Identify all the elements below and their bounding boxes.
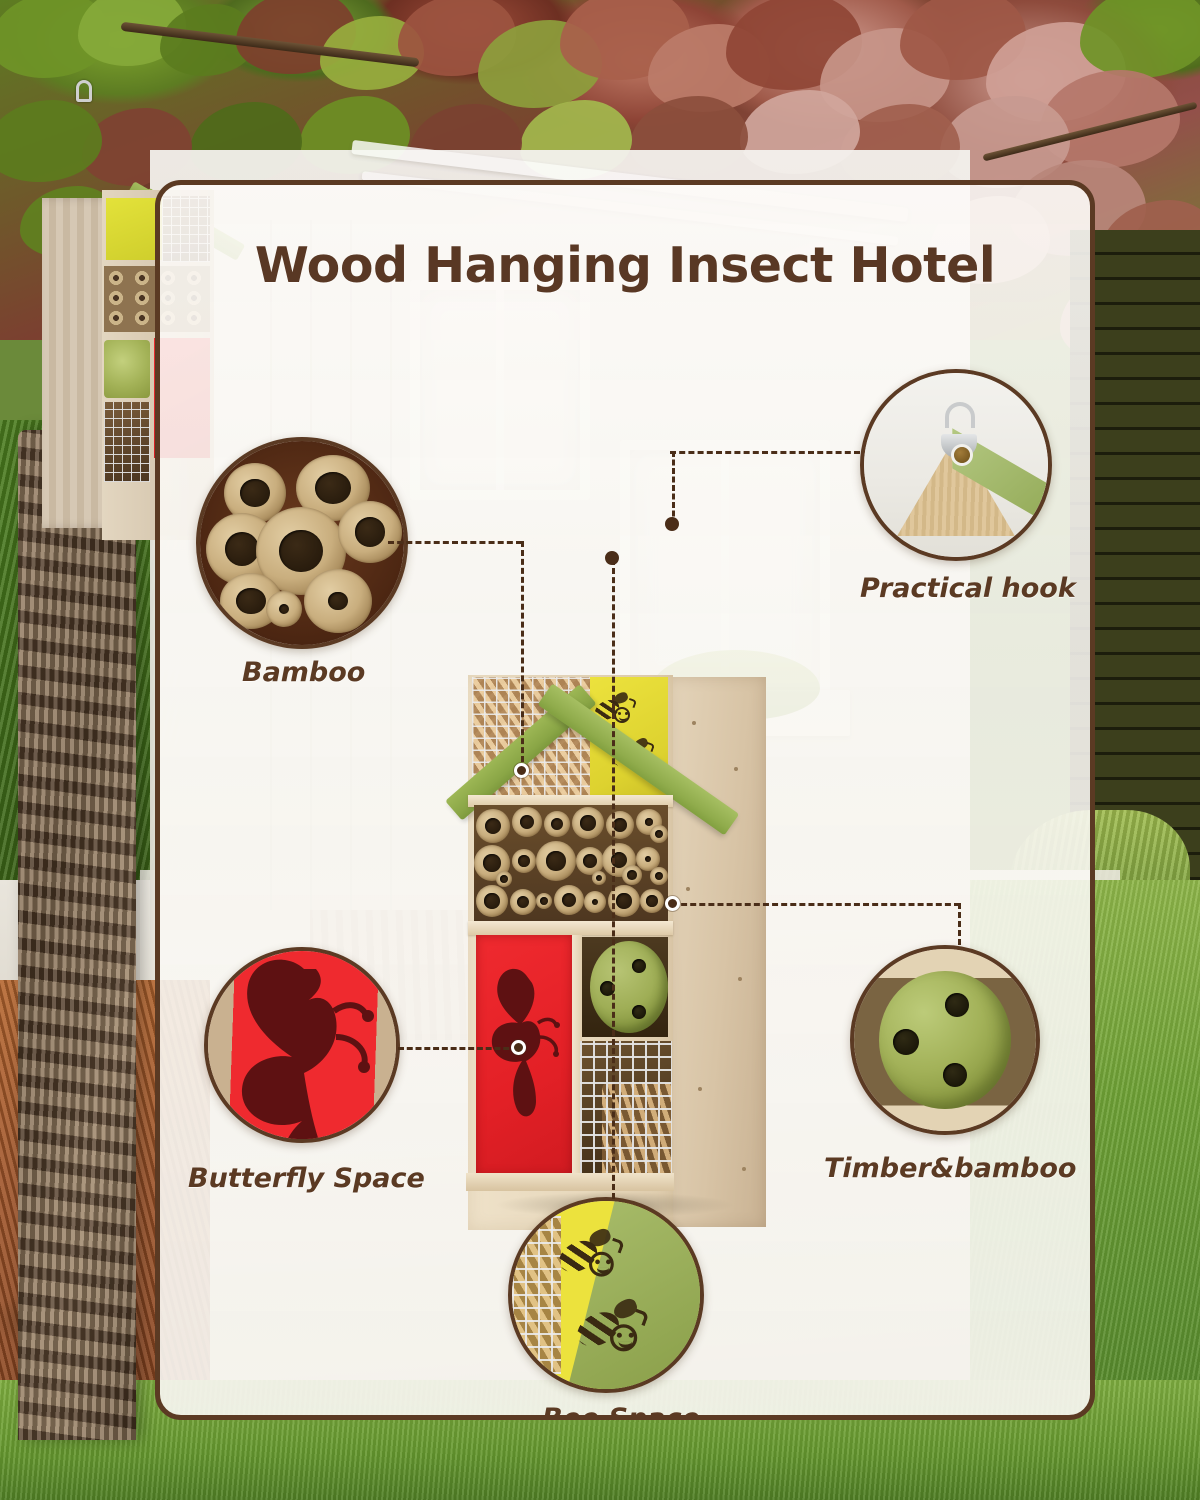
connector-endpoint — [665, 517, 679, 531]
bamboo-tube — [512, 807, 542, 837]
d-ring-hook-icon — [864, 373, 1048, 557]
leaf — [1080, 0, 1200, 78]
shelf — [468, 921, 673, 935]
drilled-log-icon — [854, 949, 1036, 1131]
connector-line — [672, 451, 675, 525]
connector-line — [398, 1047, 518, 1050]
bamboo-tube — [606, 811, 634, 839]
butterfly-shape — [218, 953, 388, 1143]
connector-endpoint — [665, 896, 680, 911]
timber-bubble[interactable] — [850, 945, 1040, 1135]
product-side-panel — [668, 677, 766, 1227]
inset-mesh-cage — [104, 402, 150, 482]
bamboo-tube — [476, 809, 510, 843]
connector-line — [612, 559, 615, 1199]
d-ring — [945, 402, 975, 428]
connector-endpoint — [514, 763, 529, 778]
callout-label-bamboo: Bamboo — [242, 657, 365, 688]
bamboo-tube — [536, 841, 576, 881]
butterfly-panel — [476, 935, 572, 1175]
bamboo-tube — [640, 889, 664, 913]
screw-icon — [954, 447, 970, 463]
roof-green — [565, 1197, 704, 1393]
bamboo-tube — [476, 885, 508, 917]
callout-label-timber-bamboo: Timber&bamboo — [824, 1153, 1076, 1184]
butterfly-cutout-icon — [208, 951, 396, 1139]
inset-bee-panel — [106, 198, 162, 260]
connector-line — [521, 541, 524, 771]
bamboo-tube — [496, 871, 512, 887]
drilled-log — [590, 941, 668, 1033]
bamboo-tube — [650, 825, 668, 843]
tree-trunk — [18, 430, 136, 1440]
timber-log-compartment — [582, 937, 668, 1037]
screenshot-root: Wood Hanging Insect Hotel — [0, 0, 1200, 1500]
wire-mesh-overlay — [512, 1216, 561, 1374]
page-title: Wood Hanging Insect Hotel — [160, 237, 1090, 294]
bamboo-tube — [266, 591, 302, 627]
log-hole — [893, 1029, 919, 1055]
inset-log-cell — [104, 340, 150, 398]
callout-label-butterfly-space: Butterfly Space — [188, 1163, 425, 1194]
connector-line — [388, 541, 522, 544]
callout-label-practical-hook: Practical hook — [860, 573, 1076, 604]
bamboo-tube — [544, 811, 570, 837]
callout-label-bee-space: Bee Space — [542, 1403, 700, 1420]
butterfly-bubble[interactable] — [204, 947, 400, 1143]
bamboo-tube — [650, 867, 668, 885]
bamboo-tube — [338, 501, 402, 563]
bamboo-bubble[interactable] — [196, 437, 408, 649]
log-hole — [632, 1005, 646, 1019]
bamboo-tube — [304, 569, 372, 633]
info-card: Wood Hanging Insect Hotel — [155, 180, 1095, 1420]
connector-line — [670, 451, 860, 454]
bamboo-tube — [622, 865, 642, 885]
butterfly-cutout-icon — [480, 961, 568, 1151]
connector-line — [672, 903, 960, 906]
bamboo-tube — [536, 893, 552, 909]
bamboo-tube — [592, 871, 606, 885]
log-hole — [943, 1063, 967, 1087]
bamboo-tubes-icon — [200, 441, 404, 645]
log-hole — [632, 959, 646, 973]
bamboo-tube — [554, 885, 584, 915]
log-hole — [945, 993, 969, 1017]
hook-bubble[interactable] — [860, 369, 1052, 561]
drilled-log — [879, 971, 1010, 1109]
bamboo-tube — [584, 891, 606, 913]
bamboo-tube — [572, 807, 604, 839]
connector-endpoint — [511, 1040, 526, 1055]
wire-mesh-overlay — [580, 1041, 672, 1175]
bee-cutout-panel-icon — [512, 1201, 700, 1389]
bamboo-tube — [510, 889, 536, 915]
bee-bubble[interactable] — [508, 1197, 704, 1393]
connector-endpoint — [605, 551, 619, 565]
bamboo-tube-compartment — [474, 805, 668, 923]
bamboo-tube — [512, 849, 536, 873]
connector-line — [958, 903, 961, 945]
mesh-cage-compartment — [580, 1041, 672, 1175]
hanging-hook-icon — [76, 80, 92, 102]
